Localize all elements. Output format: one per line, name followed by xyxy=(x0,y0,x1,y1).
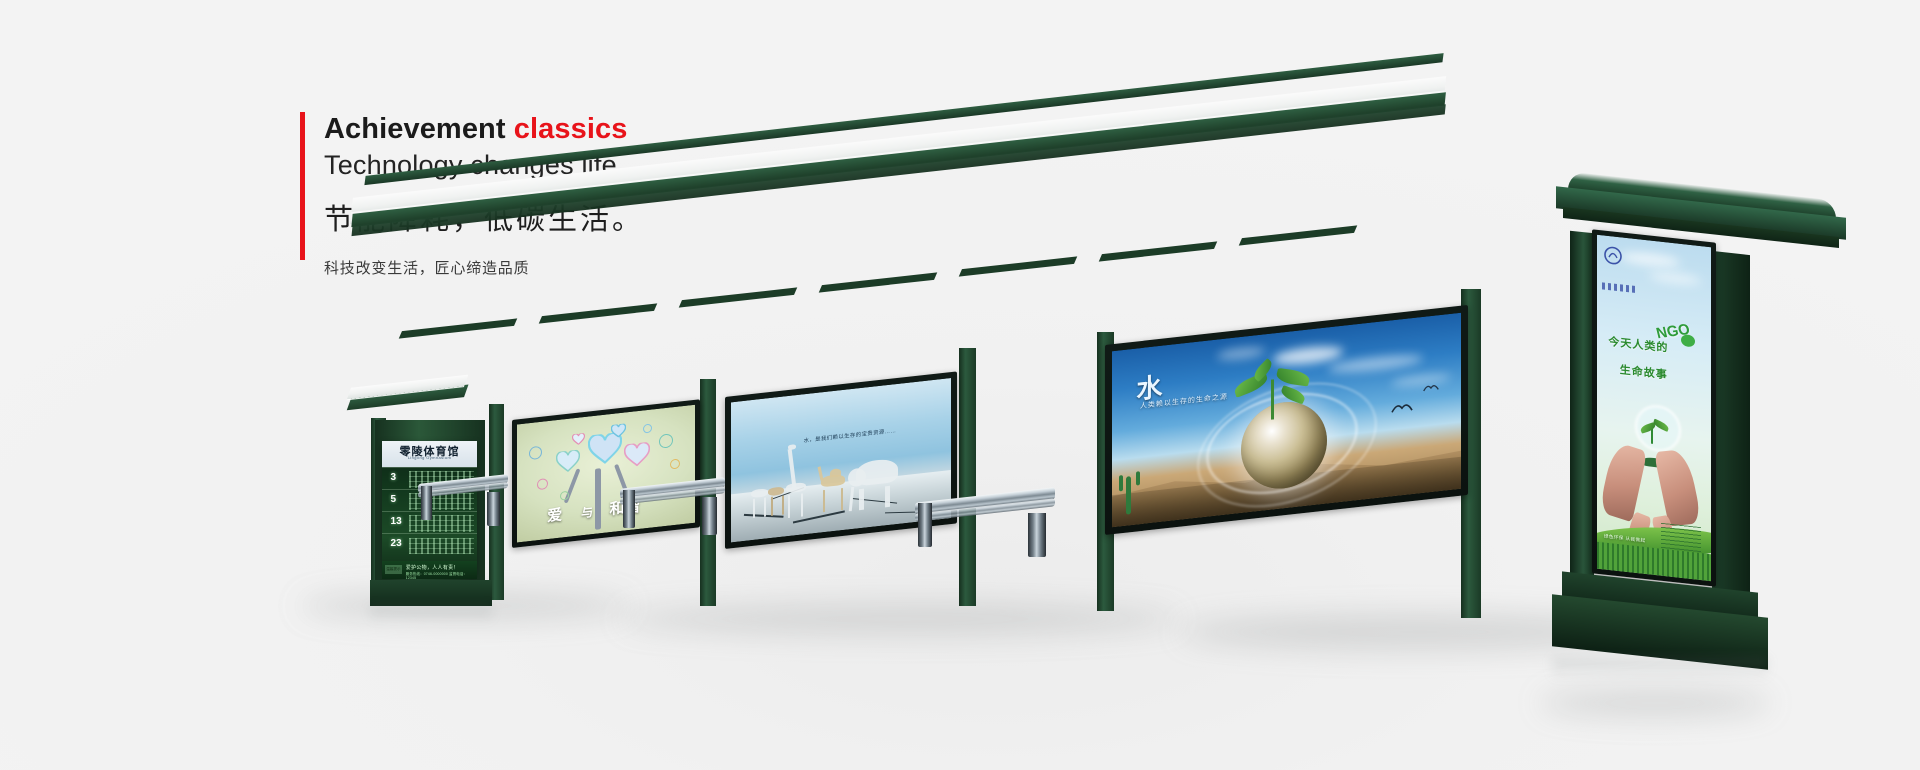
notice-message: 爱护公物，人人有责！ xyxy=(406,564,459,571)
bench-3-leg-right xyxy=(1028,513,1046,557)
bird-icon xyxy=(1423,379,1439,399)
route-number: 23 xyxy=(391,538,402,549)
giraffe-leg xyxy=(788,495,790,518)
lightbox-frame-water[interactable]: 水 人类赖以生存的生命之源 xyxy=(1105,305,1468,535)
bus-shelter-assembly: 零陵体育馆 Lingling Gymnasium 3 5 13 23 xyxy=(0,0,1920,770)
poster-green-hands: NGO 今天人类的 生命故事 绿色环保 从我做起 xyxy=(1597,235,1711,581)
cloud xyxy=(1273,343,1343,367)
cloud xyxy=(1620,251,1680,270)
decor-bubble xyxy=(529,445,542,459)
cloud xyxy=(1391,372,1451,389)
schedule-board-header: 零陵体育馆 Lingling Gymnasium xyxy=(382,441,477,467)
route-number: 13 xyxy=(391,516,402,527)
decor-bubble xyxy=(659,433,673,449)
support-post-4 xyxy=(959,348,976,606)
decor-bubble xyxy=(643,424,652,434)
decor-bubble xyxy=(670,458,680,469)
bench-3-leg-left xyxy=(918,503,932,547)
giraffe-head xyxy=(788,444,796,450)
giraffe-silhouette xyxy=(788,449,797,488)
roof-rafter-4 xyxy=(819,272,938,292)
cloud xyxy=(1217,345,1265,361)
left-hand xyxy=(1599,441,1648,522)
poster-heart-tree: 爱 与 和谐 xyxy=(517,405,695,543)
cloud xyxy=(1649,271,1701,287)
heart-small-left-icon xyxy=(572,431,585,443)
poster-water-earth: 水 人类赖以生存的生命之源 xyxy=(1112,313,1461,528)
decor-bubble xyxy=(537,478,548,490)
tower-body-left xyxy=(1570,231,1594,602)
poster-hands-line2: 生命故事 xyxy=(1620,361,1668,382)
animal-leg xyxy=(782,496,784,514)
tower-lightbox-frame[interactable]: NGO 今天人类的 生命故事 绿色环保 从我做起 xyxy=(1592,229,1716,586)
bench-1-leg-left xyxy=(421,486,432,520)
roof-rafter-7 xyxy=(1239,225,1358,245)
cactus-arm xyxy=(1136,471,1140,485)
route-stop-strip xyxy=(409,515,475,531)
route-number: 5 xyxy=(391,494,397,505)
sprout-stem xyxy=(1271,379,1274,419)
schedule-board-base xyxy=(370,580,492,606)
route-stop-strip xyxy=(409,538,475,554)
badge-dot xyxy=(1681,334,1695,348)
bench-1-leg-right xyxy=(487,492,500,526)
poster-animals-caption: 水，是我们赖以生存的宝贵资源…… xyxy=(804,426,897,444)
bench-2-leg-right xyxy=(702,497,717,535)
sprout-leaf xyxy=(1275,368,1311,387)
floor-reflection-left xyxy=(370,606,492,622)
footer-text-block xyxy=(1661,523,1701,553)
ground-shadow-mid xyxy=(620,604,1180,634)
heart-medium-right-icon xyxy=(624,442,650,468)
bird-icon xyxy=(1391,399,1413,419)
animal-leg xyxy=(753,499,755,517)
tree-trunk xyxy=(595,468,601,530)
roof-rafter-6 xyxy=(1099,241,1218,261)
animal-leg xyxy=(764,498,766,516)
camel-leg xyxy=(841,488,843,511)
schedule-board-subtitle: Lingling Gymnasium xyxy=(382,455,477,460)
notice-submessage: 服务热线：0746-0000000 监督电话：12345 xyxy=(406,571,477,579)
roof-rafter-1 xyxy=(399,318,518,338)
camel-neck xyxy=(818,466,824,480)
organisation-logo-text xyxy=(1602,282,1636,293)
poster-heart-tree-mid: 与 xyxy=(581,503,593,521)
cactus-icon xyxy=(1126,477,1131,516)
lightbox-frame-heart-tree[interactable]: 爱 与 和谐 xyxy=(512,399,700,548)
organisation-logo-icon xyxy=(1604,246,1622,266)
cactus-arm xyxy=(1119,475,1123,491)
tower-body-right xyxy=(1712,251,1750,625)
schedule-board-footer: 温馨提示 爱护公物，人人有责！ 服务热线：0746-0000000 监督电话：1… xyxy=(382,561,477,579)
roof-rafter-5 xyxy=(959,256,1078,276)
ground-shadow-tower xyxy=(1540,690,1770,716)
elephant-leg xyxy=(885,486,890,508)
route-number: 3 xyxy=(391,472,397,483)
floor-reflection-tower xyxy=(1552,658,1768,680)
cloud xyxy=(1328,352,1423,375)
notice-tag: 温馨提示 xyxy=(385,565,402,574)
camel-leg xyxy=(823,490,825,513)
giraffe-leg xyxy=(801,494,803,517)
roof-rafter-3 xyxy=(679,287,798,307)
elephant-leg xyxy=(859,488,864,510)
bench-2-leg-left xyxy=(623,490,635,528)
heart-small-top-icon xyxy=(611,423,626,438)
poster-heart-tree-title: 爱 xyxy=(547,503,562,526)
right-hand xyxy=(1654,449,1703,527)
schedule-route-row: 23 xyxy=(382,533,477,556)
heart-medium-left-icon xyxy=(556,449,580,473)
animal-leg xyxy=(771,497,773,515)
roof-rafter-2 xyxy=(539,303,658,323)
